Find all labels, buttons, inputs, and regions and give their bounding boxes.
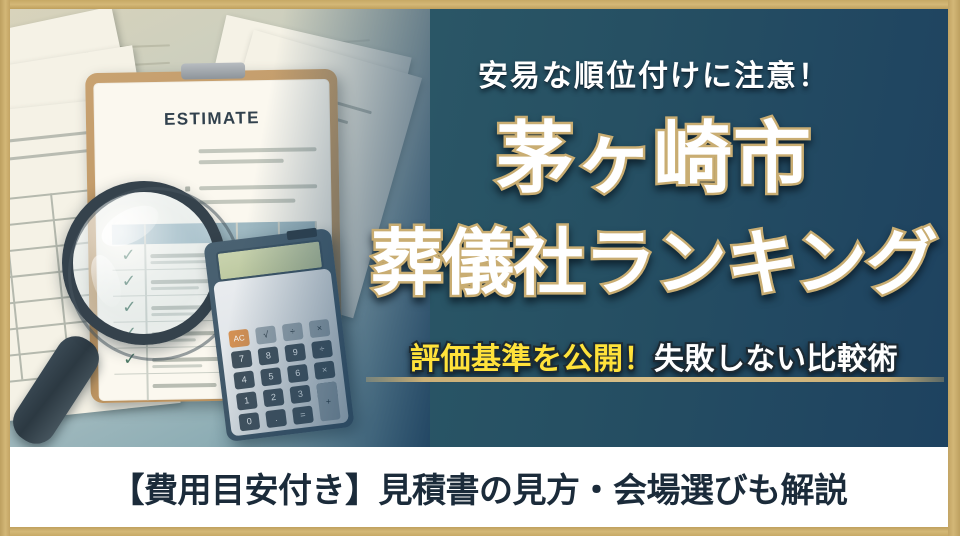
frame-border-right	[948, 0, 960, 536]
frame-border-left	[0, 0, 10, 536]
subtitle-highlight: 評価基準を公開！	[410, 342, 654, 377]
headline-block: 安易な順位付けに注意！ 茅ヶ崎市 葬儀社ランキング 評価基準を公開！失敗しない比…	[350, 18, 948, 447]
banner-root: ESTIMATE	[0, 0, 960, 536]
kicker-text: 安易な順位付けに注意！	[350, 51, 948, 95]
title-line-1: 茅ヶ崎市	[350, 117, 948, 201]
subtitle-underline	[366, 377, 944, 382]
frame-border-bottom	[0, 527, 960, 536]
bottom-strap-text: 【費用目安付き】見積書の見方・会場選びも解説	[111, 463, 848, 512]
title-line-2: 葬儀社ランキング	[350, 223, 948, 303]
subtitle-rest: 失敗しない比較術	[654, 342, 898, 377]
hero-area: ESTIMATE	[10, 9, 948, 447]
bottom-strap: 【費用目安付き】見積書の見方・会場選びも解説	[10, 447, 948, 527]
subtitle-line: 評価基準を公開！失敗しない比較術	[364, 334, 944, 378]
frame-border-top	[0, 0, 960, 9]
